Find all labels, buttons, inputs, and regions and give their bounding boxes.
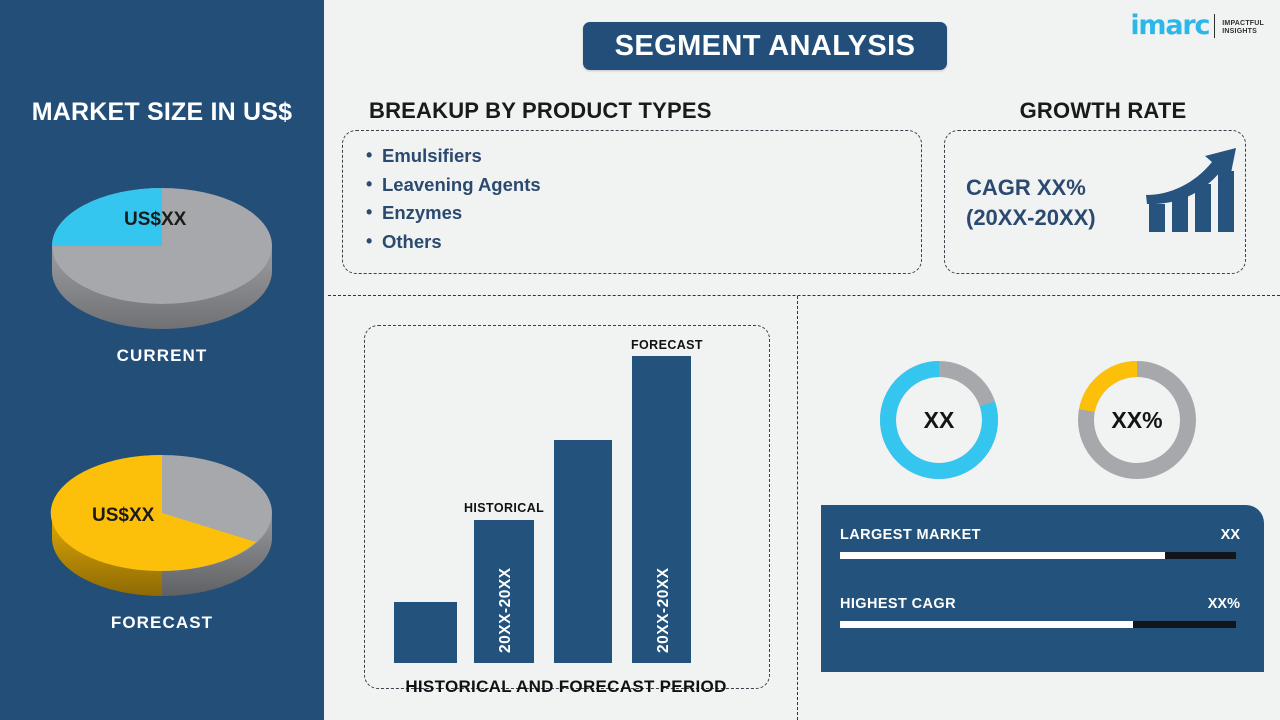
growth-chart-arrow-icon bbox=[1144, 146, 1240, 239]
horizontal-divider bbox=[328, 295, 1280, 296]
donut-chart-value: XX bbox=[874, 355, 1004, 490]
breakup-heading: BREAKUP BY PRODUCT TYPES bbox=[369, 98, 712, 124]
stat-value: XX% bbox=[1208, 596, 1240, 612]
main-content-area: SEGMENT ANALYSIS imarc IMPACTFUL INSIGHT… bbox=[324, 0, 1280, 720]
cagr-text-block: CAGR XX% (20XX-20XX) bbox=[966, 173, 1096, 233]
cagr-value: CAGR XX% bbox=[966, 173, 1096, 203]
stat-value: XX bbox=[1221, 527, 1240, 543]
page-title: SEGMENT ANALYSIS bbox=[583, 22, 947, 70]
growth-rate-heading: GROWTH RATE bbox=[944, 98, 1262, 124]
logo-wordmark: imarc bbox=[1130, 12, 1209, 39]
historical-label: HISTORICAL bbox=[464, 501, 544, 515]
current-pie-caption: CURRENT bbox=[0, 346, 324, 366]
list-item: Emulsifiers bbox=[366, 142, 541, 171]
forecast-pie-value-label: US$XX bbox=[92, 505, 155, 526]
donut-2-center-label: XX% bbox=[1111, 407, 1162, 433]
stat-label: LARGEST MARKET bbox=[840, 527, 981, 543]
market-size-title: MARKET SIZE IN US$ bbox=[0, 98, 324, 127]
bar-2-period-label: 20XX-20XX bbox=[497, 568, 515, 654]
donut-2-svg: XX% bbox=[1072, 355, 1202, 485]
stat-progress-fill bbox=[840, 552, 1165, 559]
list-item: Others bbox=[366, 228, 541, 257]
list-item: Leavening Agents bbox=[366, 171, 541, 200]
stat-progress-fill bbox=[840, 621, 1133, 628]
bar-chart-axis-label: HISTORICAL AND FORECAST PERIOD bbox=[364, 677, 768, 697]
infographic-canvas: MARKET SIZE IN US$ US$XX CURRENT bbox=[0, 0, 1280, 720]
stat-progress-track bbox=[840, 621, 1236, 628]
bar-1 bbox=[394, 602, 457, 663]
vertical-divider bbox=[797, 296, 798, 720]
forecast-label: FORECAST bbox=[631, 338, 703, 352]
product-types-list: Emulsifiers Leavening Agents Enzymes Oth… bbox=[366, 142, 541, 256]
logo-tagline-line1: IMPACTFUL bbox=[1222, 20, 1264, 29]
historical-forecast-bar-chart: HISTORICAL 20XX-20XX FORECAST 20XX-20XX … bbox=[364, 325, 768, 687]
bar-3 bbox=[554, 440, 612, 663]
stat-progress-track bbox=[840, 552, 1236, 559]
donut-chart-percent: XX% bbox=[1072, 355, 1202, 490]
market-size-panel: MARKET SIZE IN US$ US$XX CURRENT bbox=[0, 0, 324, 720]
logo-tagline-line2: INSIGHTS bbox=[1222, 28, 1264, 37]
forecast-pie-caption: FORECAST bbox=[0, 613, 324, 633]
current-pie-svg: US$XX bbox=[42, 158, 282, 338]
forecast-pie-chart: US$XX FORECAST bbox=[0, 425, 324, 633]
current-pie-chart: US$XX CURRENT bbox=[0, 158, 324, 366]
stat-label: HIGHEST CAGR bbox=[840, 596, 956, 612]
cagr-period: (20XX-20XX) bbox=[966, 203, 1096, 233]
bar-4-period-label: 20XX-20XX bbox=[655, 568, 673, 654]
imarc-logo[interactable]: imarc IMPACTFUL INSIGHTS bbox=[1130, 12, 1264, 39]
logo-divider-line bbox=[1214, 14, 1215, 38]
key-stats-card: LARGEST MARKET XX HIGHEST CAGR XX% bbox=[821, 505, 1264, 672]
donut-1-center-label: XX bbox=[924, 407, 955, 433]
growth-icon-svg bbox=[1144, 146, 1240, 234]
forecast-pie-svg: US$XX bbox=[42, 425, 282, 605]
logo-tagline: IMPACTFUL INSIGHTS bbox=[1222, 20, 1264, 40]
current-pie-value-label: US$XX bbox=[124, 209, 187, 230]
donut-1-svg: XX bbox=[874, 355, 1004, 485]
list-item: Enzymes bbox=[366, 199, 541, 228]
